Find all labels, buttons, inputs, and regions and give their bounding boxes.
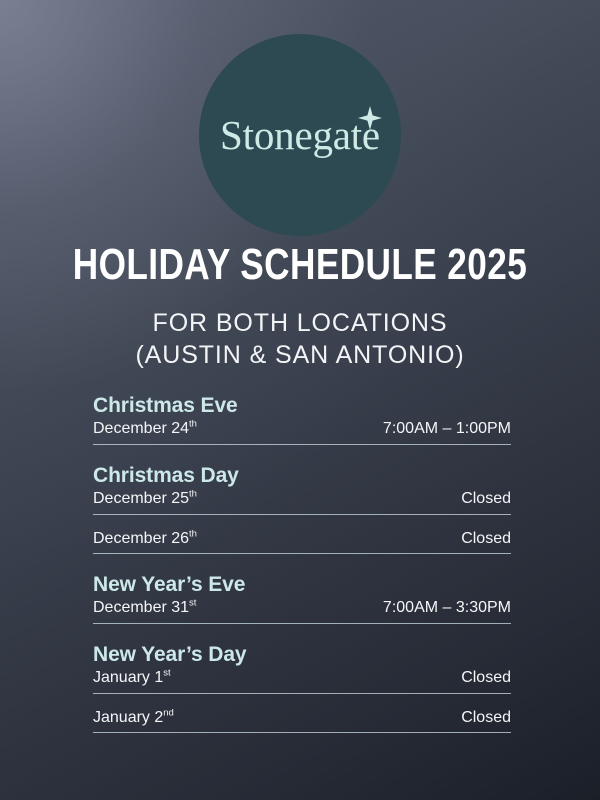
row-date-text: December 25 — [93, 490, 189, 507]
row-line: January 2nd Closed — [93, 708, 511, 733]
pharmacy-arc-mark: PHARMACY — [335, 85, 405, 155]
schedule-row: Christmas Day December 25th Closed — [93, 462, 511, 515]
row-date-text: December 31 — [93, 599, 189, 616]
row-date-text: December 26 — [93, 530, 189, 547]
schedule-row: New Year’s Day January 1st Closed — [93, 641, 511, 694]
schedule-row: New Year’s Eve December 31st 7:00AM – 3:… — [93, 571, 511, 624]
schedule-row: December 26th Closed — [93, 529, 511, 554]
row-spacer — [93, 624, 511, 641]
holiday-schedule-poster: Stonegate PHARMACY HOLIDA — [0, 0, 600, 800]
row-line: December 25th Closed — [93, 489, 511, 514]
row-hours: Closed — [461, 668, 511, 688]
row-hours: Closed — [461, 708, 511, 728]
schedule-row: Christmas Eve December 24th 7:00AM – 1:0… — [93, 392, 511, 445]
row-date: December 31st — [93, 598, 196, 618]
page-title: HOLIDAY SCHEDULE 2025 — [60, 243, 540, 287]
schedule-row: January 2nd Closed — [93, 708, 511, 733]
subtitle-location-names: (AUSTIN & SAN ANTONIO) — [0, 340, 600, 372]
row-date: December 26th — [93, 529, 197, 549]
row-date-ordinal: th — [189, 528, 197, 539]
row-hours: Closed — [461, 489, 511, 509]
row-line: December 24th 7:00AM – 1:00PM — [93, 419, 511, 444]
row-hours: 7:00AM – 3:30PM — [383, 598, 511, 618]
pharmacy-arc-label: PHARMACY — [335, 85, 399, 87]
subtitle-locations: FOR BOTH LOCATIONS — [0, 308, 600, 340]
row-date: January 1st — [93, 668, 171, 688]
row-spacer — [93, 445, 511, 462]
row-line: December 31st 7:00AM – 3:30PM — [93, 598, 511, 623]
row-hours: Closed — [461, 529, 511, 549]
row-spacer — [93, 515, 511, 529]
sparkle-icon — [358, 106, 382, 130]
headline-block: HOLIDAY SCHEDULE 2025 FOR BOTH LOCATIONS… — [0, 243, 600, 371]
row-date: December 25th — [93, 489, 197, 509]
row-heading: New Year’s Day — [93, 641, 511, 668]
row-spacer — [93, 554, 511, 571]
row-heading: Christmas Eve — [93, 392, 511, 419]
row-date-ordinal: nd — [163, 707, 174, 718]
row-date-ordinal: st — [163, 668, 170, 679]
row-date: December 24th — [93, 419, 197, 439]
schedule-list: Christmas Eve December 24th 7:00AM – 1:0… — [93, 392, 511, 733]
row-line: December 26th Closed — [93, 529, 511, 554]
row-spacer — [93, 694, 511, 708]
logo-lockup-wrapper: Stonegate PHARMACY — [199, 34, 401, 236]
logo-lockup: Stonegate PHARMACY — [220, 115, 380, 156]
row-hours: 7:00AM – 1:00PM — [383, 419, 511, 439]
row-date-text: January 1 — [93, 669, 163, 686]
row-heading: New Year’s Eve — [93, 571, 511, 598]
row-date-ordinal: th — [189, 489, 197, 500]
row-date-ordinal: th — [189, 419, 197, 430]
row-date-text: January 2 — [93, 709, 163, 726]
row-heading: Christmas Day — [93, 462, 511, 489]
row-date-text: December 24 — [93, 420, 189, 437]
brand-logo-badge: Stonegate PHARMACY — [199, 34, 401, 236]
row-date: January 2nd — [93, 708, 174, 728]
row-date-ordinal: st — [189, 598, 196, 609]
row-line: January 1st Closed — [93, 668, 511, 693]
